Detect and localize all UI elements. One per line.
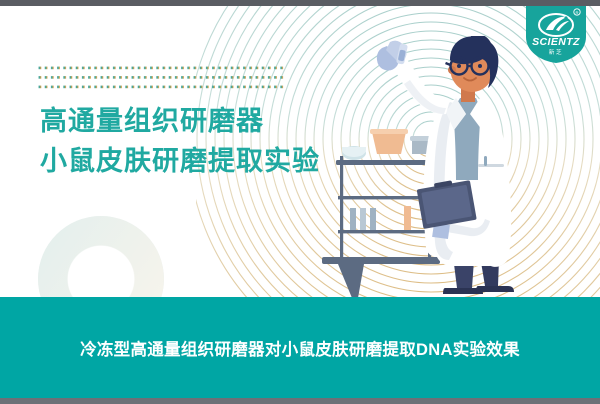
headline-line-2: 小鼠皮肤研磨提取实验 — [40, 144, 320, 179]
promo-poster: 高通量组织研磨器 小鼠皮肤研磨提取实验 R SCIENTZ 新芝 冷冻型高通量组… — [0, 0, 600, 404]
svg-text:新芝: 新芝 — [549, 48, 563, 56]
headline-line-1: 高通量组织研磨器 — [40, 104, 320, 139]
bottom-chrome-bar — [0, 398, 600, 404]
page-title: 高通量组织研磨器 小鼠皮肤研磨提取实验 — [40, 104, 320, 179]
caption-band: 冷冻型高通量组织研磨器对小鼠皮肤研磨提取DNA实验效果 — [0, 297, 600, 398]
scientz-shield-logo: R SCIENTZ 新芝 — [522, 3, 590, 63]
dot-grid-decoration — [38, 66, 284, 96]
top-chrome-bar — [0, 0, 600, 6]
caption-text: 冷冻型高通量组织研磨器对小鼠皮肤研磨提取DNA实验效果 — [80, 336, 520, 360]
svg-text:SCIENTZ: SCIENTZ — [532, 36, 580, 48]
svg-text:R: R — [575, 10, 578, 15]
scientist-with-lab-cart-illustration — [300, 36, 600, 308]
